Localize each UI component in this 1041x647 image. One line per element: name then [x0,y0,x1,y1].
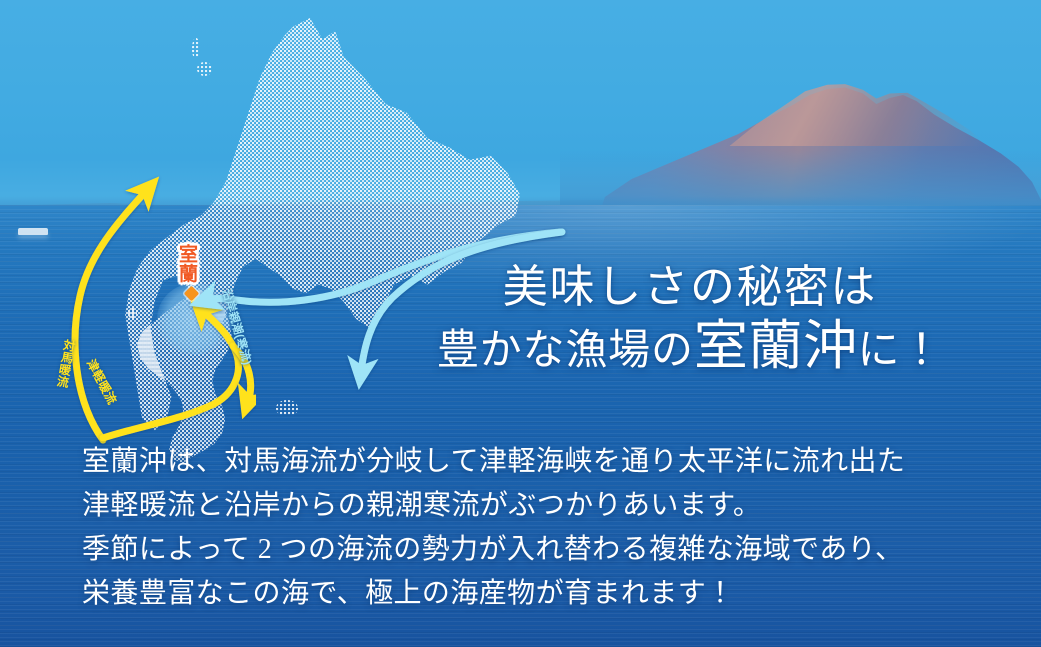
headline-line-2-prefix: 豊かな漁場の [437,328,694,374]
tsugaru-current-arrow [103,310,238,438]
body-line-3: 季節によって 2 つの海流の勢力が入れ替わる複雑な海域であり、 [82,528,982,572]
body-line-2: 津軽暖流と沿岸からの親潮寒流がぶつかりあいます。 [82,484,982,528]
body-line-4: 栄養豊富なこの海で、極上の海産物が育まれます！ [82,572,982,616]
body-copy: 室蘭沖は、対馬海流が分岐して津軽海峡を通り太平洋に流れ出た 津軽暖流と沿岸からの… [82,440,982,616]
headline-line-1: 美味しさの秘密は [370,258,1010,316]
promo-banner: 室蘭 沿岸親潮(寒流) 対馬暖流 津軽暖流 美味しさの秘密は 豊かな漁場の室蘭沖… [0,0,1041,647]
map-label-muroran: 室蘭 [176,244,197,283]
headline-emphasis-muroran-oki: 室蘭沖 [694,316,858,376]
headline-line-2-suffix: に！ [857,328,943,374]
headline: 美味しさの秘密は 豊かな漁場の室蘭沖に！ [370,258,1010,381]
body-line-1: 室蘭沖は、対馬海流が分岐して津軽海峡を通り太平洋に流れ出た [82,440,982,484]
headline-line-2: 豊かな漁場の室蘭沖に！ [370,316,1010,381]
